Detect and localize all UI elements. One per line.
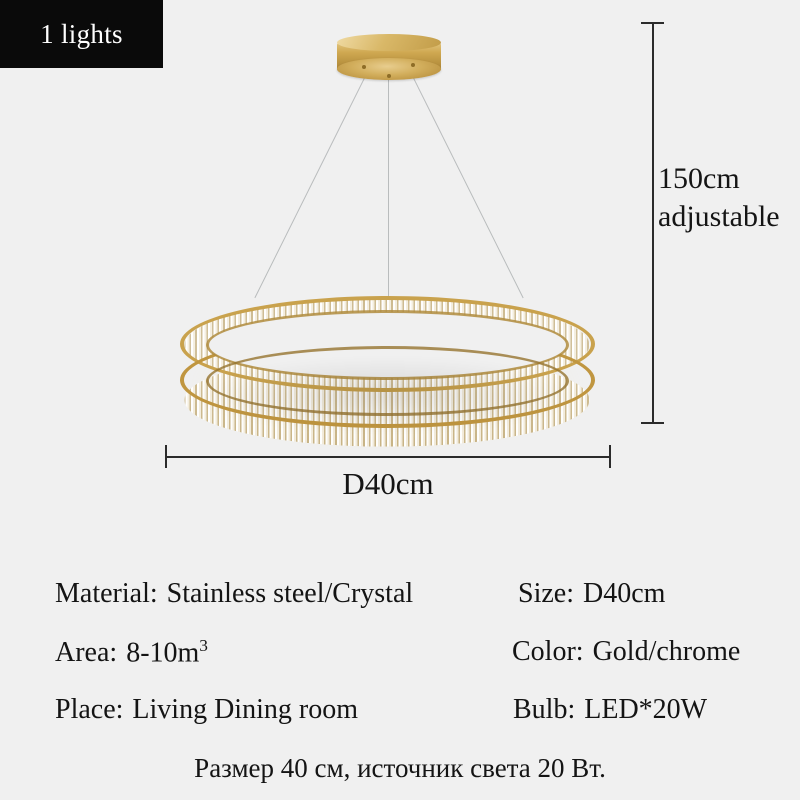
canopy-screw: [362, 65, 366, 69]
canopy-screw: [411, 63, 415, 67]
diameter-dimension-cap-left: [165, 445, 167, 468]
spec-material-value: Stainless steel/Crystal: [167, 578, 414, 609]
canopy-screw: [387, 74, 391, 78]
spec-material: Material:Stainless steel/Crystal: [55, 578, 413, 610]
diameter-dimension-label: D40cm: [165, 466, 611, 502]
diameter-dimension-stroke: [165, 456, 611, 458]
height-dimension-line: [652, 22, 653, 424]
ring-shadow: [190, 356, 585, 434]
suspension-cable-left: [254, 76, 366, 299]
spec-row: Place:Living Dining room Bulb:LED*20W: [0, 694, 800, 752]
height-dimension-label: 150cm adjustable: [658, 160, 780, 236]
height-dimension-cap-bottom: [641, 422, 664, 424]
spec-bulb-value: LED*20W: [584, 694, 707, 725]
specification-block: Material:Stainless steel/Crystal Size:D4…: [0, 578, 800, 752]
diameter-dimension-cap-right: [609, 445, 611, 468]
product-image-canvas: 1 lights: [0, 0, 800, 800]
spec-area-key: Area:: [55, 637, 117, 668]
spec-size: Size:D40cm: [518, 578, 665, 610]
pendant-lamp-illustration: [0, 0, 800, 520]
spec-place-key: Place:: [55, 694, 123, 725]
crystal-ring: [180, 296, 595, 428]
spec-bulb-key: Bulb:: [513, 694, 575, 725]
spec-place: Place:Living Dining room: [55, 694, 358, 726]
spec-area-value: 8-10m: [126, 637, 199, 668]
ceiling-canopy: [337, 34, 441, 80]
spec-row: Material:Stainless steel/Crystal Size:D4…: [0, 578, 800, 636]
spec-size-key: Size:: [518, 578, 574, 609]
height-dimension-stroke: [652, 22, 654, 424]
spec-place-value: Living Dining room: [132, 694, 358, 725]
suspension-cable-right: [412, 76, 524, 299]
canopy-top-surface: [337, 34, 441, 51]
spec-color-key: Color:: [512, 636, 584, 667]
spec-area: Area:8-10m3: [55, 636, 208, 669]
spec-row: Area:8-10m3 Color:Gold/chrome: [0, 636, 800, 694]
spec-bulb: Bulb:LED*20W: [513, 694, 707, 726]
height-dimension-cap-top: [641, 22, 664, 24]
spec-material-key: Material:: [55, 578, 158, 609]
spec-color: Color:Gold/chrome: [512, 636, 740, 668]
spec-area-unit-exponent: 3: [199, 636, 208, 655]
diameter-dimension-line: [165, 456, 611, 457]
russian-specification-footnote: Размер 40 см, источник света 20 Вт.: [0, 753, 800, 784]
spec-color-value: Gold/chrome: [593, 636, 741, 667]
spec-size-value: D40cm: [583, 578, 665, 609]
